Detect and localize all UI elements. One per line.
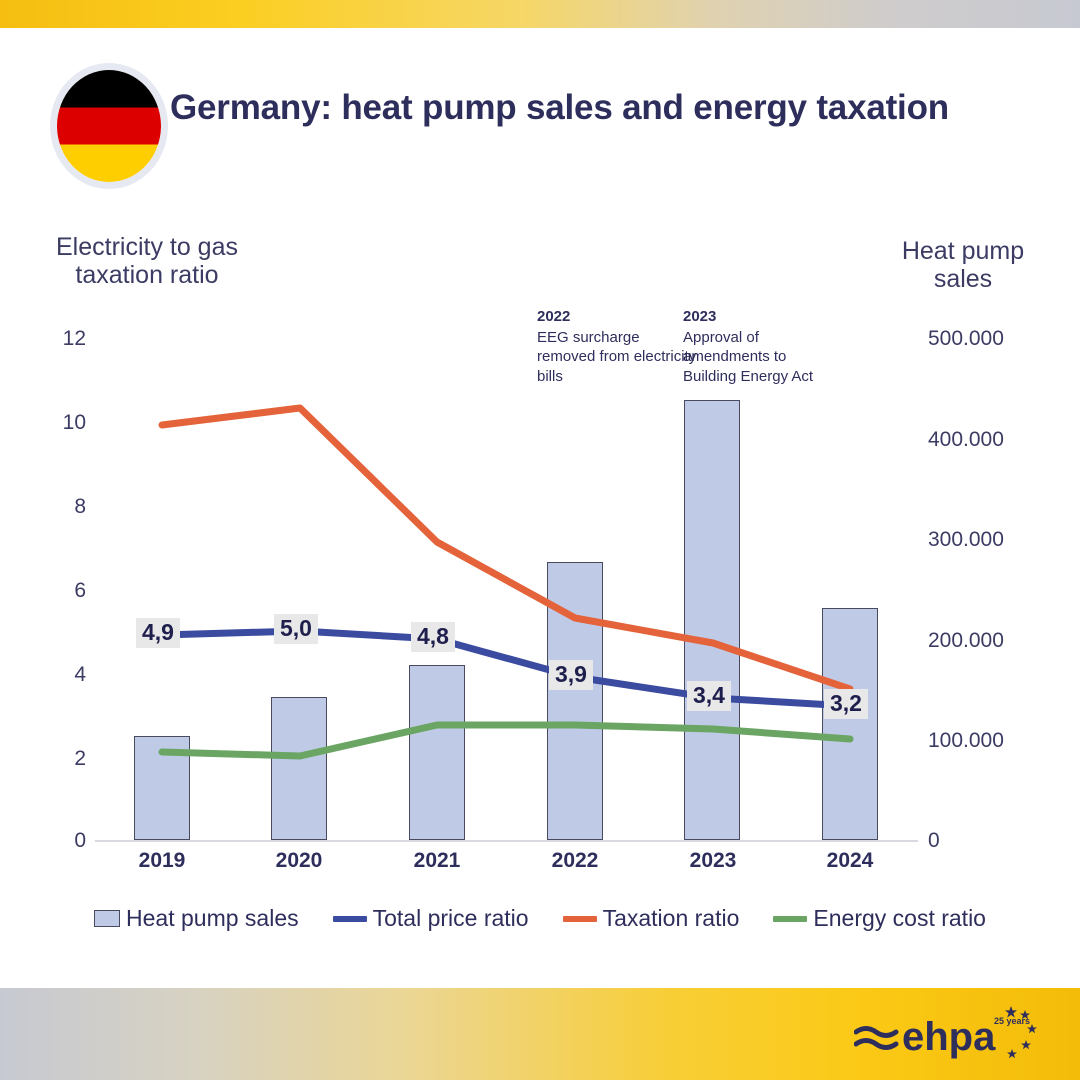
x-label-2021: 2021 bbox=[377, 849, 497, 873]
chart-area: Electricity to gas taxation ratio Heat p… bbox=[0, 215, 1080, 975]
x-label-2024: 2024 bbox=[790, 849, 910, 873]
legend-swatch-line-icon-orange bbox=[563, 916, 597, 922]
annotation-2023: 2023 Approval of amendments to Building … bbox=[683, 307, 843, 386]
x-label-2019: 2019 bbox=[102, 849, 222, 873]
data-label-2022: 3,9 bbox=[549, 660, 593, 690]
energy-cost-ratio-line bbox=[162, 725, 850, 756]
x-axis-line bbox=[95, 840, 918, 842]
x-label-2023: 2023 bbox=[653, 849, 773, 873]
data-label-2023: 3,4 bbox=[687, 681, 731, 711]
legend-swatch-line-icon-blue bbox=[333, 916, 367, 922]
legend-item-energy-cost-ratio[interactable]: Energy cost ratio bbox=[773, 905, 986, 932]
page-title: Germany: heat pump sales and energy taxa… bbox=[170, 88, 949, 128]
total-price-ratio-line bbox=[162, 631, 850, 706]
legend-label-total-price-ratio: Total price ratio bbox=[373, 905, 529, 932]
annotation-2023-text: Approval of amendments to Building Energ… bbox=[683, 329, 813, 384]
legend-label-heat-pump-sales: Heat pump sales bbox=[126, 905, 299, 932]
taxation-ratio-line bbox=[162, 408, 850, 689]
legend-item-total-price-ratio[interactable]: Total price ratio bbox=[333, 905, 529, 932]
legend-item-heat-pump-sales[interactable]: Heat pump sales bbox=[94, 905, 299, 932]
data-label-2020: 5,0 bbox=[274, 614, 318, 644]
chart-legend: Heat pump sales Total price ratio Taxati… bbox=[0, 905, 1080, 932]
top-gradient-band bbox=[0, 0, 1080, 28]
legend-swatch-bar-icon bbox=[94, 910, 120, 927]
x-label-2022: 2022 bbox=[515, 849, 635, 873]
annotation-2022-text: EEG surcharge removed from electricity b… bbox=[537, 329, 696, 384]
slide-root: Germany: heat pump sales and energy taxa… bbox=[0, 0, 1080, 1080]
legend-label-taxation-ratio: Taxation ratio bbox=[603, 905, 740, 932]
annotation-2022-year: 2022 bbox=[537, 307, 697, 326]
svg-text:25 years: 25 years bbox=[994, 1016, 1030, 1026]
legend-item-taxation-ratio[interactable]: Taxation ratio bbox=[563, 905, 740, 932]
legend-swatch-line-icon-green bbox=[773, 916, 807, 922]
svg-text:ehpa: ehpa bbox=[902, 1015, 996, 1059]
plot-region: 12 10 8 6 4 2 0 500.000 400.000 300.000 … bbox=[0, 215, 1080, 915]
x-label-2020: 2020 bbox=[239, 849, 359, 873]
header: Germany: heat pump sales and energy taxa… bbox=[0, 60, 1080, 190]
data-label-2021: 4,8 bbox=[411, 622, 455, 652]
germany-flag-icon bbox=[57, 70, 161, 182]
legend-label-energy-cost-ratio: Energy cost ratio bbox=[813, 905, 986, 932]
data-label-2024: 3,2 bbox=[824, 689, 868, 719]
ehpa-logo: ehpa 25 years bbox=[854, 1002, 1044, 1064]
data-label-2019: 4,9 bbox=[136, 618, 180, 648]
annotation-2022: 2022 EEG surcharge removed from electric… bbox=[537, 307, 697, 386]
annotation-2023-year: 2023 bbox=[683, 307, 843, 326]
ehpa-logo-mark-icon: ehpa 25 years bbox=[854, 1002, 1044, 1064]
